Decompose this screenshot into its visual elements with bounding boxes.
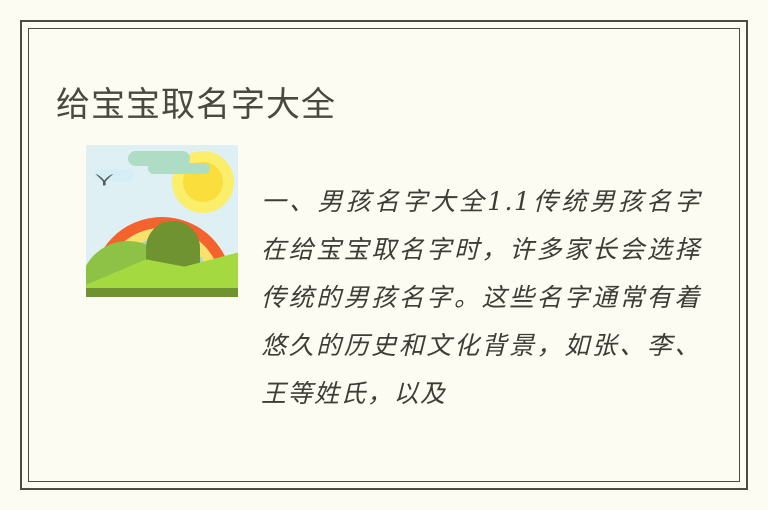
article-illustration: [86, 145, 238, 297]
bird-icon: [95, 173, 114, 186]
article-page: 给宝宝取名字大全: [0, 0, 768, 510]
page-title: 给宝宝取名字大全: [56, 84, 336, 126]
article-body-text: 一、男孩名字大全1.1传统男孩名字在给宝宝取名字时，许多家长会选择传统的男孩名字…: [261, 178, 701, 418]
cloud-icon-lower: [148, 163, 210, 174]
ground-strip: [86, 288, 238, 297]
page-content: 给宝宝取名字大全: [28, 28, 740, 482]
